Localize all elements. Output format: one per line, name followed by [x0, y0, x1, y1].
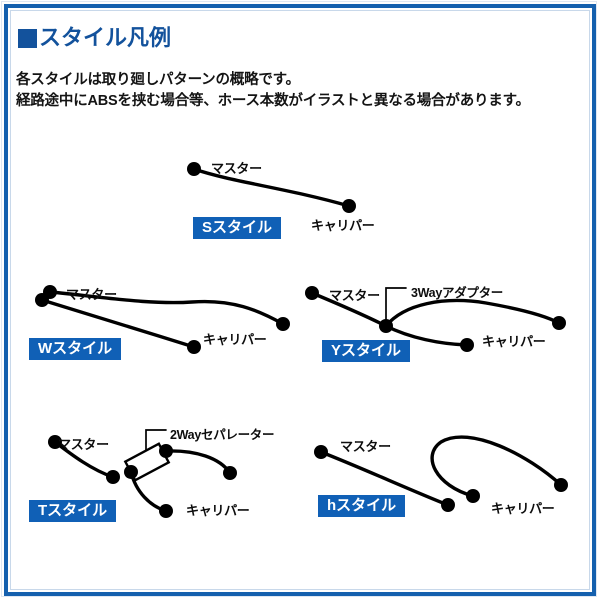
- style-legend-page: スタイル凡例 各スタイルは取り廻しパターンの概略です。 経路途中にABSを挟む場…: [0, 0, 600, 600]
- y-style-caliper-label: キャリパー: [482, 331, 546, 350]
- y-style-three-way-adapter-label: 3Wayアダプター: [411, 282, 503, 301]
- page-title-row: スタイル凡例: [18, 27, 171, 49]
- h-style-master-label: マスター: [340, 436, 391, 455]
- t-style-master-label: マスター: [58, 434, 109, 453]
- t-style-badge[interactable]: Tスタイル: [29, 500, 116, 522]
- lead-text-line-2: 経路途中にABSを挟む場合等、ホース本数がイラストと異なる場合があります。: [16, 89, 530, 110]
- s-style-master-label: マスター: [211, 158, 262, 177]
- t-style-two-way-separator-label: 2Wayセパレーター: [170, 424, 274, 443]
- h-style-caliper-label: キャリパー: [491, 498, 555, 517]
- s-style-caliper-label: キャリパー: [311, 215, 375, 234]
- w-style-caliper-label: キャリパー: [203, 329, 267, 348]
- w-style-master-label: マスター: [66, 284, 117, 303]
- filled-square-icon: [18, 29, 37, 48]
- w-style-badge[interactable]: Wスタイル: [29, 338, 121, 360]
- y-style-badge[interactable]: Yスタイル: [322, 340, 410, 362]
- h-style-badge[interactable]: hスタイル: [318, 495, 405, 517]
- t-style-caliper-label: キャリパー: [186, 500, 250, 519]
- lead-text-line-1: 各スタイルは取り廻しパターンの概略です。: [16, 68, 300, 89]
- page-title: スタイル凡例: [39, 27, 171, 49]
- s-style-badge[interactable]: Sスタイル: [193, 217, 281, 239]
- y-style-master-label: マスター: [329, 285, 380, 304]
